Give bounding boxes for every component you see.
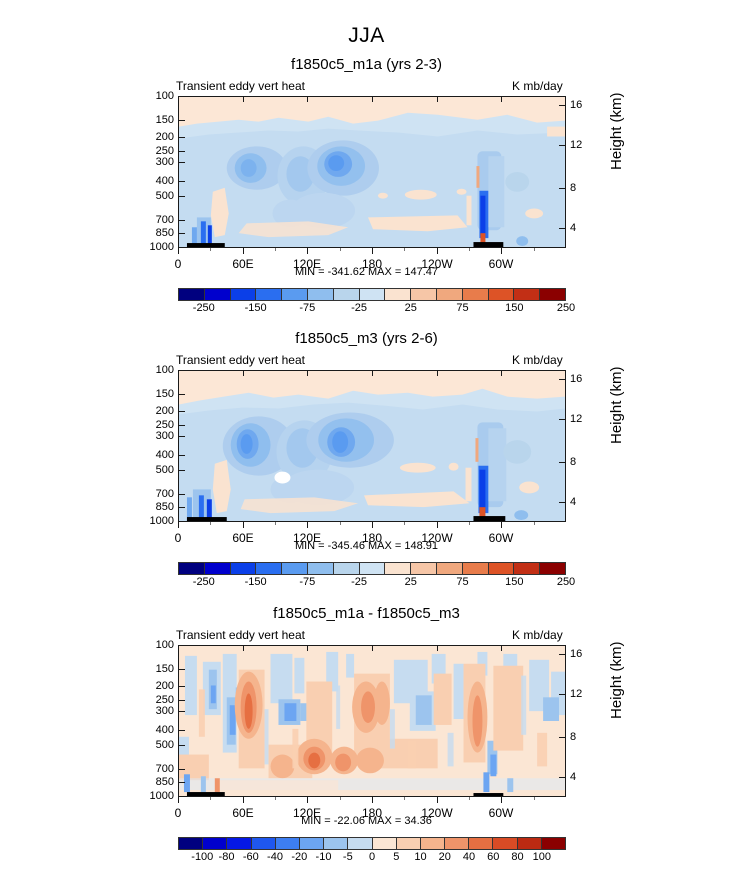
panel-2-subtitle-left: Transient eddy vert heat [176, 353, 305, 367]
panel-2-heatmap [179, 371, 565, 521]
panel-1-heatmap [179, 97, 565, 247]
panel-2-minmax: MIN = -345.46 MAX = 148.91 [0, 540, 733, 552]
panel-3-y-ticklabels: 100 150 200 250 300 400 500 700 850 1000 [136, 645, 174, 797]
panel-1-y-ticklabels: 100 150 200 250 300 400 500 700 850 1000 [136, 96, 174, 248]
panel-2-right-axis-label: Height (km) [608, 366, 625, 444]
panel-1-subtitle-left: Transient eddy vert heat [176, 79, 305, 93]
panel-2-title: f1850c5_m3 (yrs 2-6) [0, 330, 733, 347]
panel-1-minmax: MIN = -341.62 MAX = 147.47 [0, 266, 733, 278]
panel-3-minmax: MIN = -22.06 MAX = 34.36 [0, 815, 733, 827]
panel-1-plot-area [178, 96, 566, 248]
panel-3-colorbar-labels: -100 -80 -60 -40 -20 -10 -5 0 5 10 20 40… [178, 851, 566, 867]
panel-3-subtitle-left: Transient eddy vert heat [176, 628, 305, 642]
panel-1-title: f1850c5_m1a (yrs 2-3) [0, 56, 733, 73]
panel-2-right-ticklabels: 16 12 8 4 [570, 370, 596, 522]
panel-2-subtitle-right: K mb/day [512, 353, 563, 367]
panel-3-plot-area [178, 645, 566, 797]
panel-3-colorbar [178, 837, 566, 850]
panel-2-colorbar [178, 562, 566, 575]
panel-3-subtitle-right: K mb/day [512, 628, 563, 642]
panel-3-right-axis-label: Height (km) [608, 641, 625, 719]
panel-1-right-ticklabels: 16 12 8 4 [570, 96, 596, 248]
panel-2-colorbar-labels: -250 -150 -75 -25 25 75 150 250 [178, 576, 566, 592]
panel-1-colorbar [178, 288, 566, 301]
panel-2-y-ticklabels: 100 150 200 250 300 400 500 700 850 1000 [136, 370, 174, 522]
panel-1-colorbar-labels: -250 -150 -75 -25 25 75 150 250 [178, 302, 566, 318]
panel-3-title: f1850c5_m1a - f1850c5_m3 [0, 605, 733, 622]
panel-3-right-ticklabels: 16 12 8 4 [570, 645, 596, 797]
panel-3-heatmap [179, 646, 565, 796]
panel-1-subtitle-right: K mb/day [512, 79, 563, 93]
panel-1-right-axis-label: Height (km) [608, 92, 625, 170]
figure-main-title: JJA [0, 24, 733, 48]
panel-2-plot-area [178, 370, 566, 522]
